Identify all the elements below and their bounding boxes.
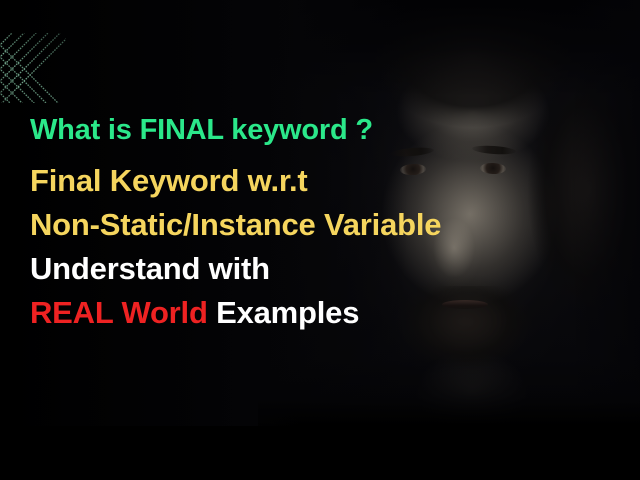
content-region: What is FINAL keyword ? Final Keyword w.… [0, 0, 640, 426]
headline-subtitle-3: Understand with [30, 253, 610, 284]
headline-final-rest: Examples [208, 295, 360, 330]
headline-emphasis-real-world: REAL World [30, 295, 208, 330]
letterbox-bottom [0, 426, 640, 480]
headline-text-block: What is FINAL keyword ? Final Keyword w.… [30, 116, 610, 328]
headline-subtitle-2: Non-Static/Instance Variable [30, 209, 610, 240]
headline-final-line: REAL World Examples [30, 297, 610, 328]
video-thumbnail: What is FINAL keyword ? Final Keyword w.… [0, 0, 640, 480]
headline-subtitle-1: Final Keyword w.r.t [30, 165, 610, 196]
headline-title: What is FINAL keyword ? [30, 116, 610, 145]
photo-fade-bottom [258, 356, 640, 426]
diagonal-lattice-icon [0, 33, 66, 103]
